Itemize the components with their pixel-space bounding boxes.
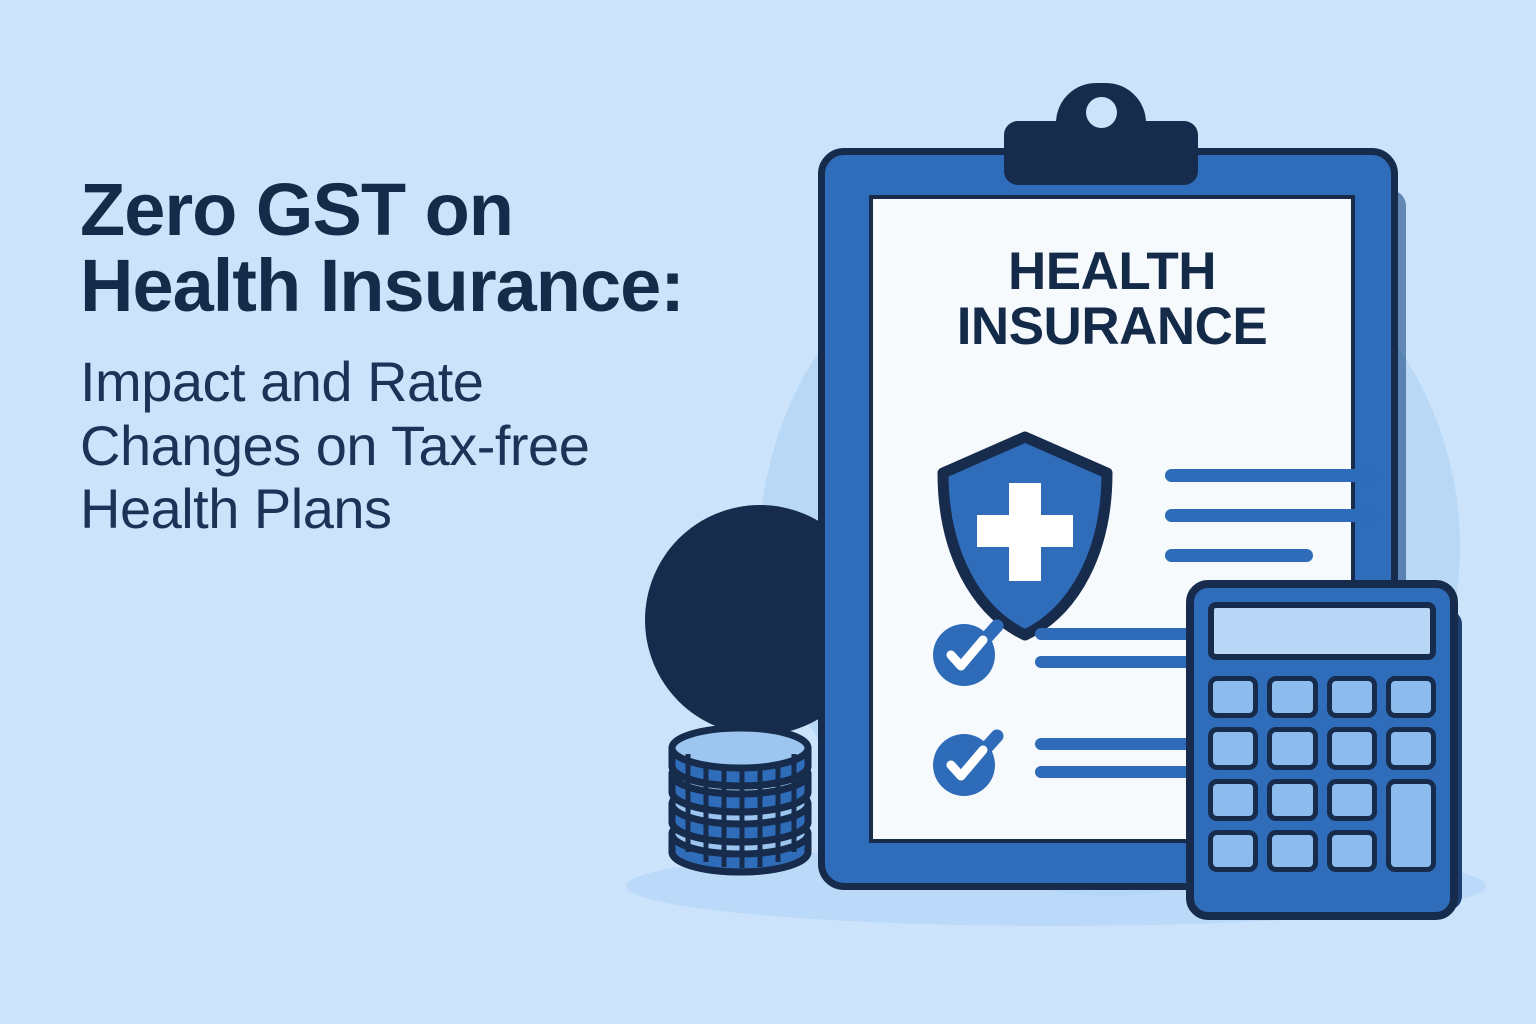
calculator-key[interactable] bbox=[1267, 727, 1317, 769]
document-title: HEALTH INSURANCE bbox=[873, 245, 1351, 354]
document-text-line bbox=[1165, 509, 1377, 522]
calculator-key[interactable] bbox=[1208, 779, 1258, 821]
calculator-key[interactable] bbox=[1386, 676, 1436, 718]
clipboard-clip-hole bbox=[1086, 97, 1117, 128]
calculator-key[interactable] bbox=[1208, 676, 1258, 718]
medical-shield-icon bbox=[935, 431, 1115, 641]
clipboard-clip-icon bbox=[1004, 121, 1198, 185]
calculator-key[interactable] bbox=[1327, 779, 1377, 821]
banner-canvas: Zero GST on Health Insurance: Impact and… bbox=[0, 0, 1536, 1024]
check-circle-icon bbox=[931, 724, 1005, 798]
calculator-key[interactable] bbox=[1208, 830, 1258, 872]
coin-stack-icon bbox=[660, 722, 820, 882]
calculator-key[interactable] bbox=[1267, 676, 1317, 718]
page-title: Zero GST on Health Insurance: bbox=[80, 172, 700, 324]
calculator-icon bbox=[1186, 580, 1458, 920]
calculator-key[interactable] bbox=[1267, 779, 1317, 821]
calculator-key[interactable] bbox=[1267, 830, 1317, 872]
document-text-line bbox=[1165, 469, 1377, 482]
headline-block: Zero GST on Health Insurance: Impact and… bbox=[80, 172, 700, 540]
document-text-line bbox=[1165, 549, 1313, 562]
calculator-key-equals[interactable] bbox=[1386, 779, 1436, 873]
document-title-line-2: INSURANCE bbox=[873, 300, 1351, 355]
calculator-key[interactable] bbox=[1327, 830, 1377, 872]
calculator-display bbox=[1208, 602, 1436, 660]
calculator-key[interactable] bbox=[1208, 727, 1258, 769]
page-subtitle: Impact and Rate Changes on Tax-free Heal… bbox=[80, 350, 700, 540]
calculator-key[interactable] bbox=[1386, 727, 1436, 769]
calculator-key[interactable] bbox=[1327, 727, 1377, 769]
check-circle-icon bbox=[931, 614, 1005, 688]
document-text-lines bbox=[1165, 469, 1377, 589]
calculator-key[interactable] bbox=[1327, 676, 1377, 718]
calculator-keypad bbox=[1208, 676, 1436, 872]
document-title-line-1: HEALTH bbox=[873, 245, 1351, 300]
